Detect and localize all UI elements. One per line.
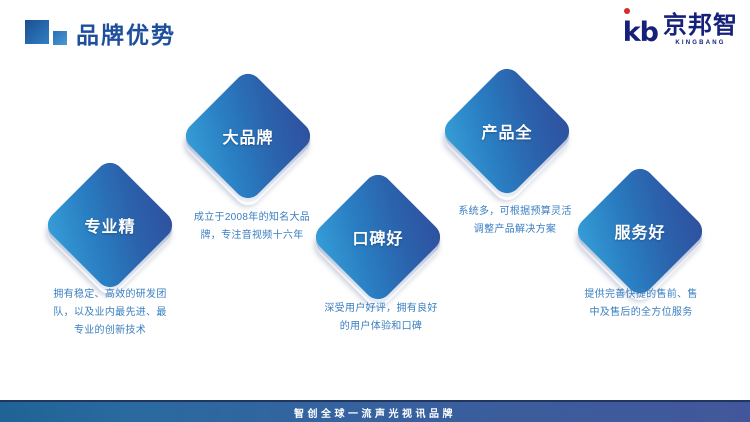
advantage-description-2: 成立于2008年的知名大品 牌，专注音视频十六年	[178, 209, 326, 245]
diamond-face	[439, 63, 575, 199]
diamond-face	[572, 163, 708, 299]
header-square-small-icon	[53, 31, 67, 45]
brand-logo: kb 京邦智 KINGBANG	[623, 12, 738, 46]
diamond-face	[310, 169, 446, 305]
advantage-diamond-2[interactable]: 大品牌	[200, 88, 296, 184]
page-footer: 智创全球一流声光视讯品牌	[0, 400, 750, 422]
page-title: 品牌优势	[76, 16, 176, 50]
diamond-face	[42, 157, 178, 293]
advantage-description-1: 拥有稳定、高效的研发团 队，以及业内最先进、最 专业的创新技术	[20, 286, 200, 340]
logo-dot-icon	[624, 8, 630, 14]
advantage-diamond-1[interactable]: 专业精	[62, 177, 158, 273]
advantage-description-4: 系统多，可根据预算灵活 调整产品解决方案	[441, 203, 589, 239]
header-square-large-icon	[25, 20, 49, 44]
advantage-diamond-5[interactable]: 服务好	[592, 183, 688, 279]
logo-english-name: KINGBANG	[675, 40, 725, 46]
logo-mark-text: kb	[623, 19, 658, 46]
logo-chinese-name: 京邦智	[663, 14, 738, 38]
advantage-diamond-3[interactable]: 口碑好	[330, 189, 426, 285]
logo-text-block: 京邦智 KINGBANG	[663, 14, 738, 46]
footer-slogan: 智创全球一流声光视讯品牌	[294, 405, 456, 420]
advantage-description-3: 深受用户好评，拥有良好 的用户体验和口碑	[303, 300, 459, 336]
advantage-diamond-4[interactable]: 产品全	[459, 83, 555, 179]
diamond-face	[180, 68, 316, 204]
advantage-description-5: 提供完善快捷的售前、售 中及售后的全方位服务	[566, 286, 716, 322]
